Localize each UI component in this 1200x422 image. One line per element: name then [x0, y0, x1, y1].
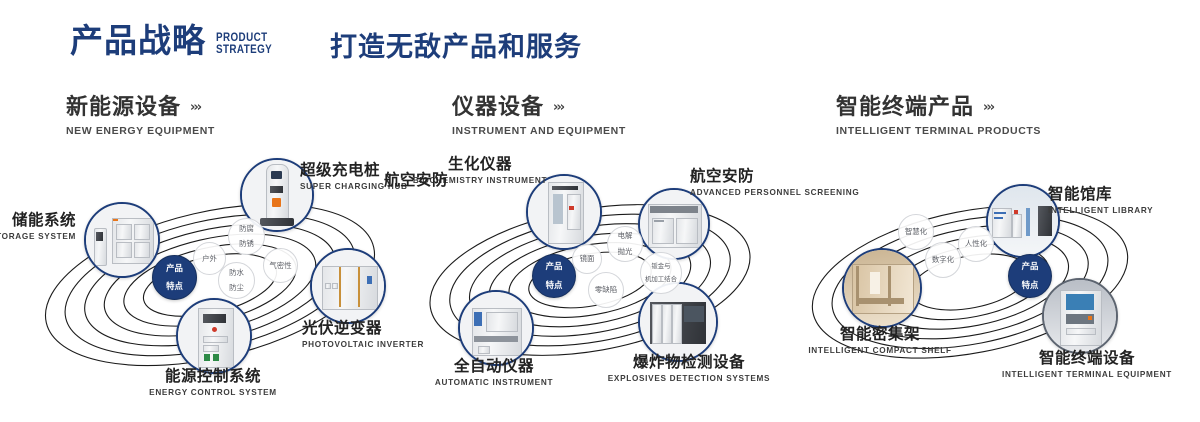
product-node-intelligent-terminal-equipment[interactable]	[1042, 278, 1118, 354]
center-bubble-line1: 产品	[1021, 262, 1040, 271]
feature-bubble-humanized[interactable]: 人性化	[958, 226, 994, 262]
feature-bubble-mirror-finish[interactable]: 镜面	[572, 244, 602, 274]
poster-canvas: 产品战略 PRODUCT STRATEGY 打造无敌产品和服务 新能源设备 ››…	[0, 0, 1200, 422]
center-bubble-line2: 特点	[165, 282, 184, 291]
section-title-cn: 智能终端产品 ›››	[836, 96, 1041, 120]
center-bubble-line1: 产品	[165, 264, 184, 273]
header-subtitle: 打造无敌产品和服务	[330, 34, 582, 61]
section-title-cn: 新能源设备 ›››	[66, 96, 215, 120]
header-title-en: PRODUCT STRATEGY	[216, 31, 272, 55]
section-title-en: INSTRUMENT AND EQUIPMENT	[452, 125, 626, 137]
product-node-photovoltaic-inverter[interactable]	[310, 248, 386, 324]
explosives-detection-photo	[640, 284, 716, 360]
section-title-en: NEW ENERGY EQUIPMENT	[66, 125, 215, 137]
center-bubble-product-features[interactable]: 产品 特点	[152, 255, 197, 300]
section-title-cn: 仪器设备 ›››	[452, 96, 626, 120]
section-title-intelligent-terminal: 智能终端产品 ››› INTELLIGENT TERMINAL PRODUCTS	[836, 96, 1041, 137]
product-node-energy-control-system[interactable]	[176, 298, 252, 374]
feature-bubble-electropolishing[interactable]: 电解 抛光	[607, 226, 643, 262]
section-title-en: INTELLIGENT TERMINAL PRODUCTS	[836, 125, 1041, 137]
feature-bubble-zero-defect[interactable]: 零缺陷	[588, 272, 624, 308]
product-node-intelligent-compact-shelf[interactable]	[842, 248, 922, 328]
center-bubble-product-features[interactable]: 产品 特点	[1008, 254, 1052, 298]
section-title-cn-text: 新能源设备	[66, 96, 181, 120]
product-label-intelligent-compact-shelf: 智能密集架 INTELLIGENT COMPACT SHELF	[780, 326, 980, 356]
product-node-automatic-instrument[interactable]	[458, 290, 534, 366]
product-label-intelligent-terminal-equipment: 智能终端设备 INTELLIGENT TERMINAL EQUIPMENT	[982, 350, 1192, 379]
intelligent-terminal-equipment-photo	[1044, 280, 1116, 352]
center-bubble-line1: 产品	[545, 262, 564, 271]
panel-intelligent-terminal: 智能馆库 INTELLIGENT LIBRARY 智能密集架 INTELLIGE…	[790, 150, 1190, 412]
product-label-energy-storage: 储能系统 ENERGY STORAGE SYSTEM	[0, 212, 76, 241]
feature-bubble-anticorrosion[interactable]: 防腐 防锈	[228, 218, 265, 255]
biochemistry-instrument-photo	[528, 176, 600, 248]
product-label-automatic-instrument: 全自动仪器 AUTOMATIC INSTRUMENT	[404, 358, 584, 387]
energy-control-system-photo	[178, 300, 250, 372]
section-title-cn-text: 智能终端产品	[836, 96, 974, 120]
intelligent-compact-shelf-photo	[844, 250, 920, 326]
center-bubble-line2: 特点	[1021, 281, 1040, 290]
section-title-instrument: 仪器设备 ››› INSTRUMENT AND EQUIPMENT	[452, 96, 626, 137]
feature-bubble-digital[interactable]: 数字化	[925, 242, 961, 278]
header-title-cn: 产品战略	[70, 24, 206, 57]
chevron-right-icon: ›››	[553, 101, 563, 115]
product-node-personnel-screening[interactable]	[638, 188, 710, 260]
center-bubble-product-features[interactable]: 产品 特点	[532, 254, 576, 298]
photovoltaic-inverter-photo	[312, 250, 384, 322]
product-label-explosives-detection: 爆炸物检测设备 EXPLOSIVES DETECTION SYSTEMS	[586, 354, 792, 383]
feature-bubble-sheetmetal-machining[interactable]: 钣金与 机加工结合	[640, 252, 682, 294]
personnel-screening-photo	[640, 190, 708, 258]
energy-storage-photo	[86, 204, 158, 276]
feature-bubble-airtight[interactable]: 气密性	[263, 248, 298, 283]
poster-header: 产品战略 PRODUCT STRATEGY	[70, 24, 284, 57]
panel-instrument: 生化仪器 BIOCHEMISTRY INSTRUMENT 航空安防 航空安防 A…	[390, 150, 790, 412]
product-label-aviation-security-left: 航空安防	[338, 172, 448, 190]
center-bubble-line2: 特点	[545, 281, 564, 290]
product-label-intelligent-library: 智能馆库 INTELLIGENT LIBRARY	[1048, 186, 1198, 215]
header-title-en-line2: STRATEGY	[216, 43, 272, 55]
product-node-energy-storage[interactable]	[84, 202, 160, 278]
section-title-cn-text: 仪器设备	[452, 96, 544, 120]
chevron-right-icon: ›››	[190, 101, 200, 115]
product-node-explosives-detection[interactable]	[638, 282, 718, 362]
product-label-energy-control-system: 能源控制系统 ENERGY CONTROL SYSTEM	[98, 368, 328, 397]
automatic-instrument-photo	[460, 292, 532, 364]
section-title-new-energy: 新能源设备 ››› NEW ENERGY EQUIPMENT	[66, 96, 215, 137]
feature-bubble-intelligent[interactable]: 智慧化	[898, 214, 934, 250]
feature-bubble-waterproof[interactable]: 防水 防尘	[218, 262, 255, 299]
product-label-en-compact-shelf: INTELLIGENT COMPACT SHELF	[780, 346, 980, 357]
chevron-right-icon: ›››	[983, 101, 993, 115]
